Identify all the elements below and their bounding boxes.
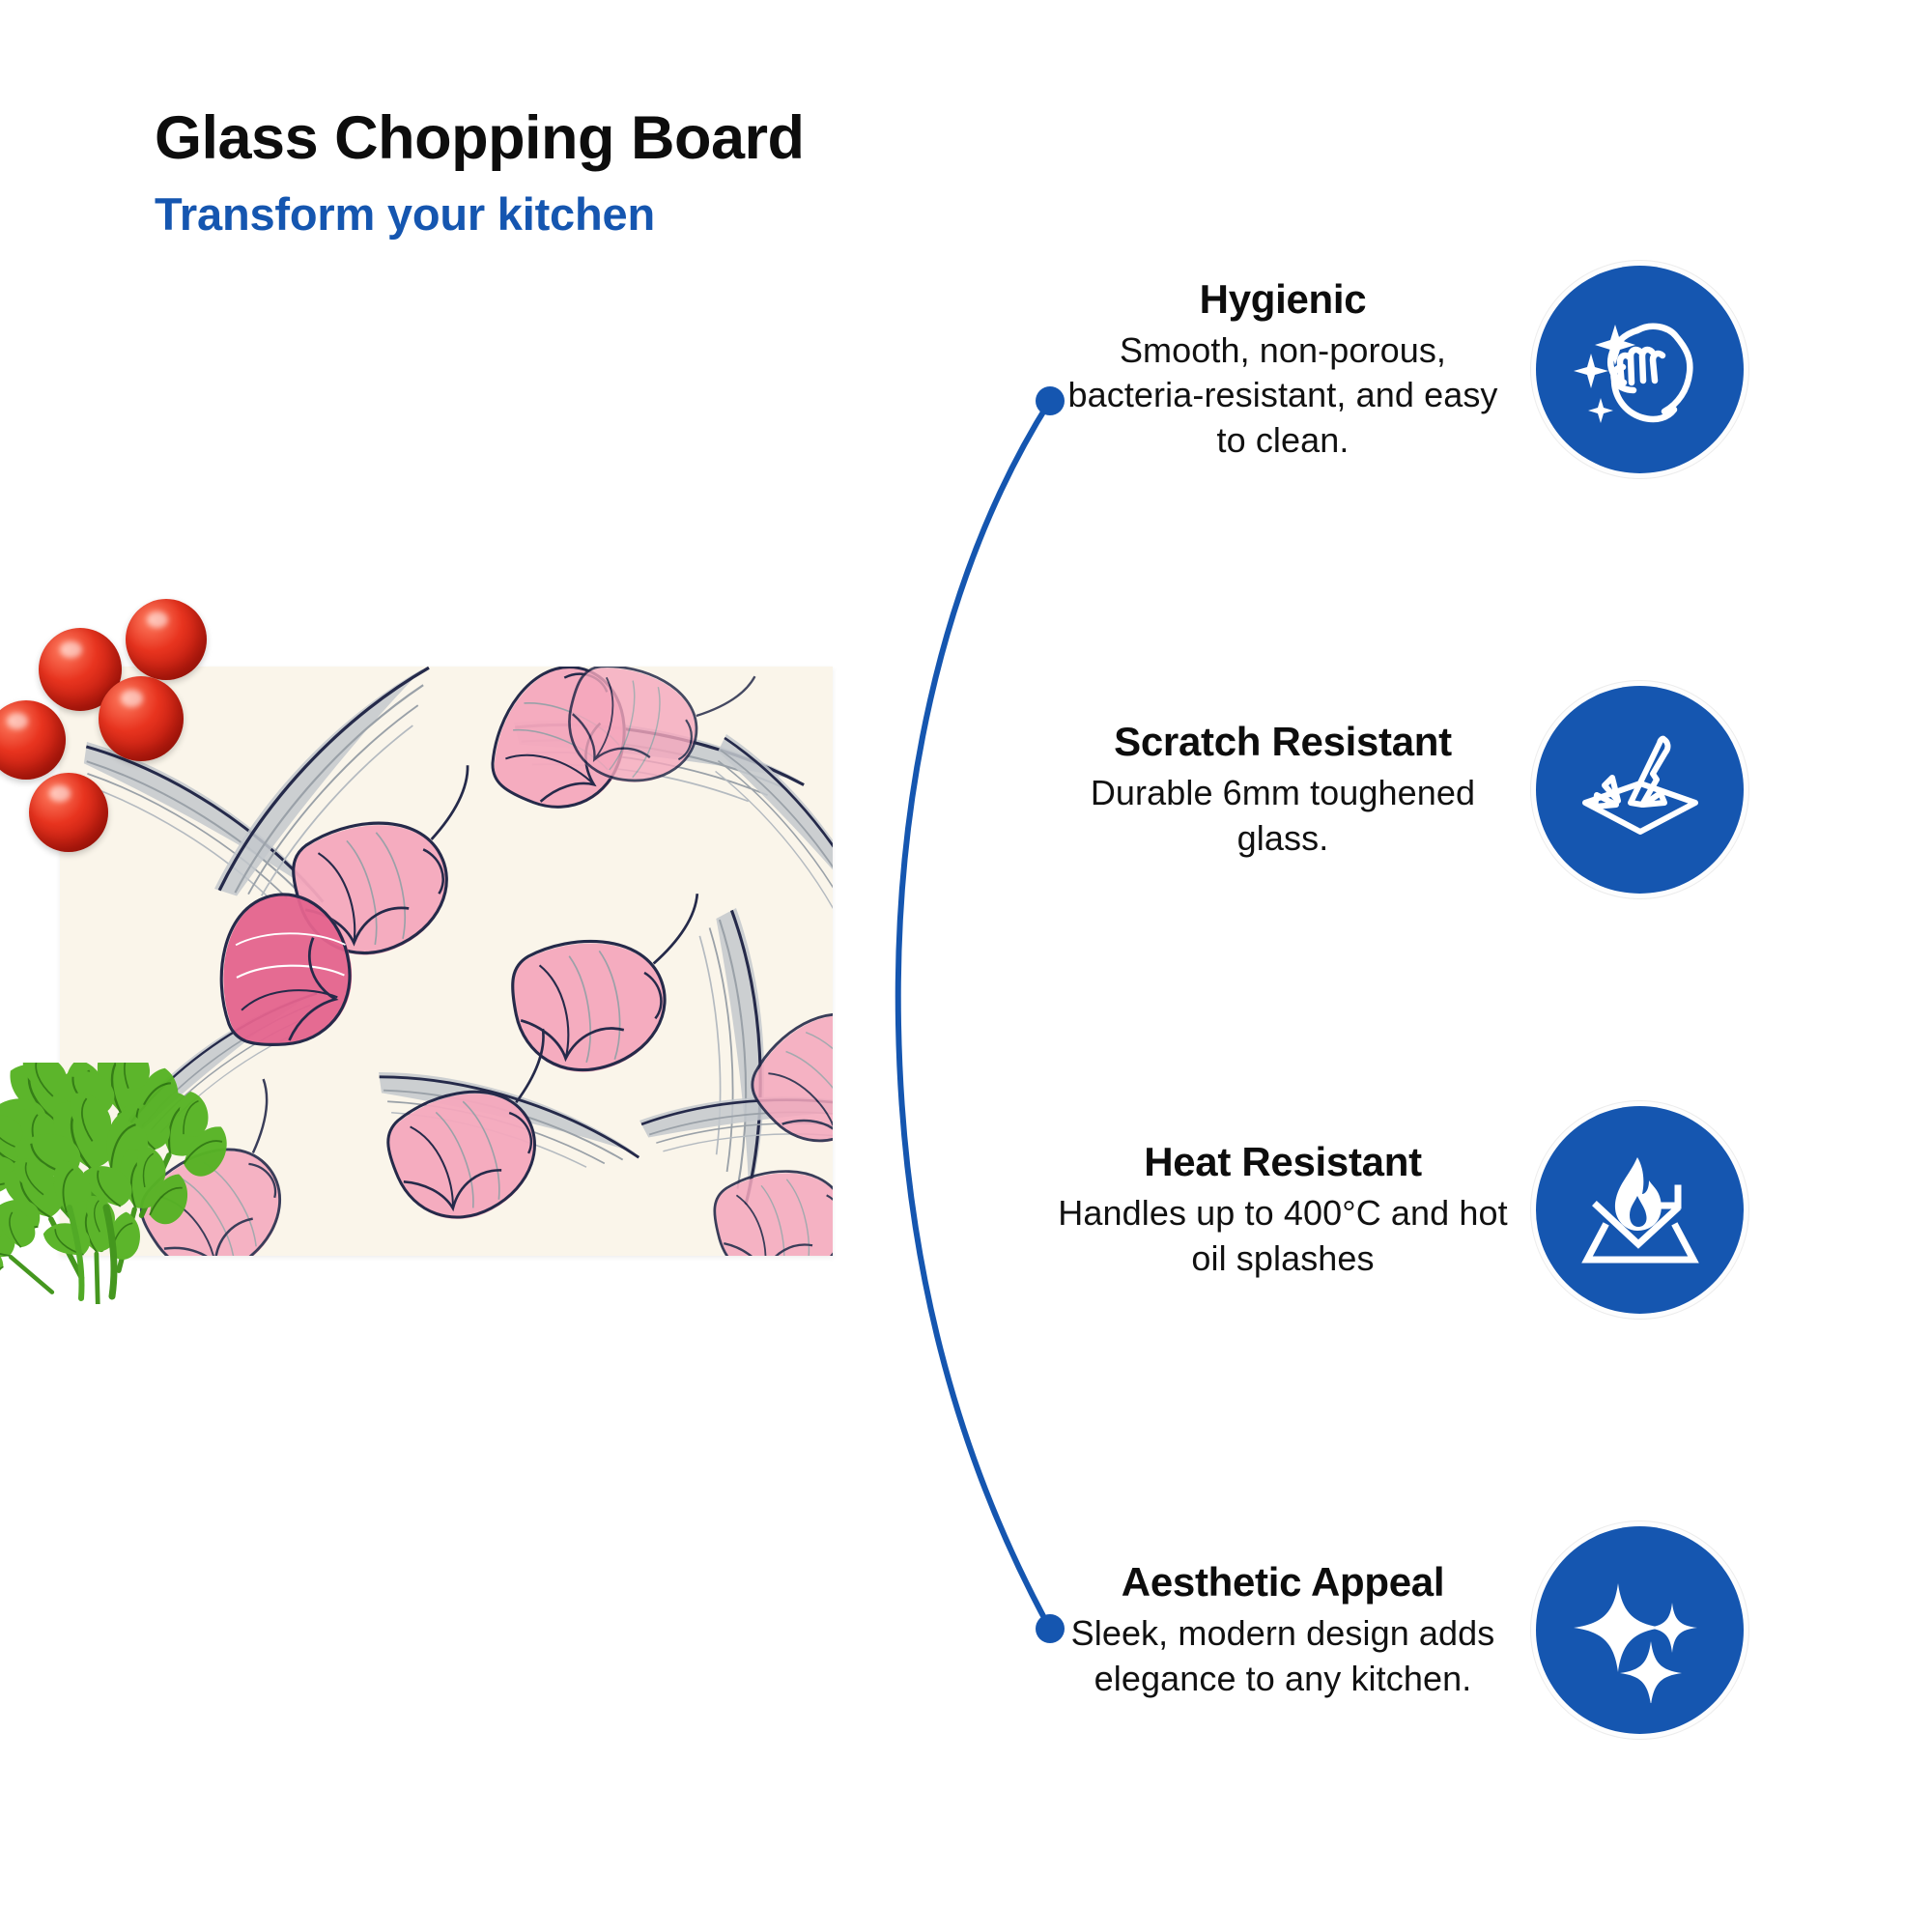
- cherry-tomato: [99, 676, 184, 761]
- curved-callout-line: [802, 357, 1130, 1671]
- feature-hygienic: Hygienic Smooth, non-porous, bacteria-re…: [1053, 266, 1744, 473]
- cherry-tomato: [29, 773, 108, 852]
- feature-description: Sleek, modern design adds elegance to an…: [1053, 1611, 1513, 1700]
- feature-text: Heat Resistant Handles up to 400°C and h…: [1053, 1139, 1536, 1280]
- page-title: Glass Chopping Board: [155, 106, 1121, 170]
- feature-text: Scratch Resistant Durable 6mm toughened …: [1053, 719, 1536, 860]
- feature-scratch-resistant: Scratch Resistant Durable 6mm toughened …: [1053, 686, 1744, 894]
- cherry-tomato: [126, 599, 207, 680]
- hand-wipe-sparkle-icon: [1536, 266, 1744, 473]
- feature-title: Hygienic: [1053, 276, 1513, 323]
- feature-description: Handles up to 400°C and hot oil splashes: [1053, 1191, 1513, 1280]
- page-subtitle: Transform your kitchen: [155, 187, 1121, 241]
- feature-title: Aesthetic Appeal: [1053, 1559, 1513, 1605]
- feature-description: Durable 6mm toughened glass.: [1053, 771, 1513, 860]
- feature-heat-resistant: Heat Resistant Handles up to 400°C and h…: [1053, 1106, 1744, 1314]
- knife-scratch-surface-icon: [1536, 686, 1744, 894]
- feature-title: Scratch Resistant: [1053, 719, 1513, 765]
- feature-title: Heat Resistant: [1053, 1139, 1513, 1185]
- cherry-tomato: [0, 700, 66, 780]
- feature-text: Hygienic Smooth, non-porous, bacteria-re…: [1053, 276, 1536, 462]
- feature-text: Aesthetic Appeal Sleek, modern design ad…: [1053, 1559, 1536, 1700]
- parsley-bunch: [0, 1063, 338, 1304]
- sparkles-icon: [1536, 1526, 1744, 1734]
- feature-aesthetic-appeal: Aesthetic Appeal Sleek, modern design ad…: [1053, 1526, 1744, 1734]
- flame-deflect-surface-icon: [1536, 1106, 1744, 1314]
- header: Glass Chopping Board Transform your kitc…: [155, 106, 1121, 241]
- feature-description: Smooth, non-porous, bacteria-resistant, …: [1053, 328, 1513, 462]
- product-image: [0, 618, 869, 1294]
